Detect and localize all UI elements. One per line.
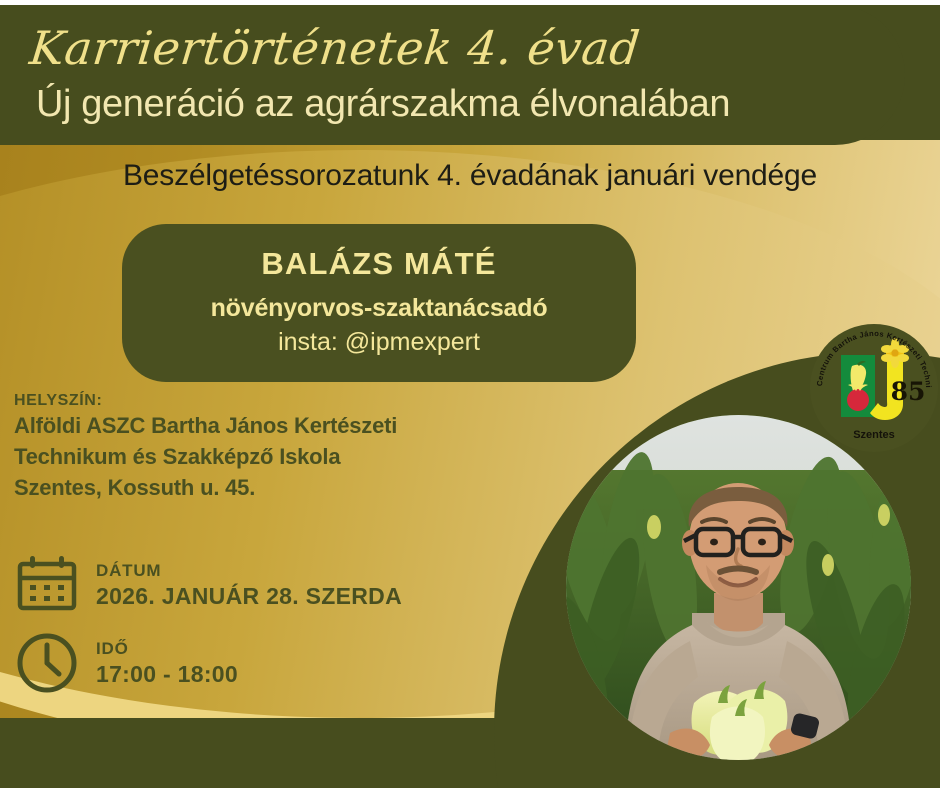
- venue-line-1: Alföldi ASZC Bartha János Kertészeti: [14, 410, 397, 441]
- time-value: 17:00 - 18:00: [96, 661, 238, 688]
- guest-portrait: [566, 415, 911, 760]
- lead-text: Beszélgetéssorozatunk 4. évadának január…: [0, 159, 940, 193]
- logo-anniversary: 85: [891, 377, 926, 406]
- logo-city: Szentes: [853, 429, 895, 441]
- guest-role: növényorvos-szaktanácsadó: [122, 294, 636, 323]
- guest-card: BALÁZS MÁTÉ növényorvos-szaktanácsadó in…: [122, 224, 636, 382]
- school-logo: 85 Alföldi Agrárszakképzési Centrum Bart…: [808, 322, 940, 454]
- venue-label: HELYSZÍN:: [14, 392, 397, 410]
- clock-icon: [14, 630, 80, 696]
- time-row: IDŐ 17:00 - 18:00: [14, 630, 238, 696]
- guest-name: BALÁZS MÁTÉ: [122, 246, 636, 282]
- time-label: IDŐ: [96, 639, 238, 659]
- guest-instagram-handle: insta: @ipmexpert: [122, 328, 636, 357]
- time-text: IDŐ 17:00 - 18:00: [96, 639, 238, 688]
- venue-block: HELYSZÍN: Alföldi ASZC Bartha János Kert…: [14, 392, 397, 503]
- date-value: 2026. JANUÁR 28. SZERDA: [96, 583, 402, 610]
- venue-line-2: Technikum és Szakképző Iskola: [14, 441, 397, 472]
- top-white-strip: [0, 0, 940, 5]
- poster-root: Karriertörténetek 4. évad Új generáció a…: [0, 0, 940, 788]
- calendar-icon: [14, 552, 80, 618]
- date-label: DÁTUM: [96, 561, 402, 581]
- venue-line-3: Szentes, Kossuth u. 45.: [14, 472, 397, 503]
- date-row: DÁTUM 2026. JANUÁR 28. SZERDA: [14, 552, 402, 618]
- date-text: DÁTUM 2026. JANUÁR 28. SZERDA: [96, 561, 402, 610]
- header-bar: Karriertörténetek 4. évad Új generáció a…: [0, 5, 905, 145]
- page-title-script: Karriertörténetek 4. évad: [27, 21, 642, 75]
- page-subtitle: Új generáció az agrárszakma élvonalában: [36, 83, 730, 126]
